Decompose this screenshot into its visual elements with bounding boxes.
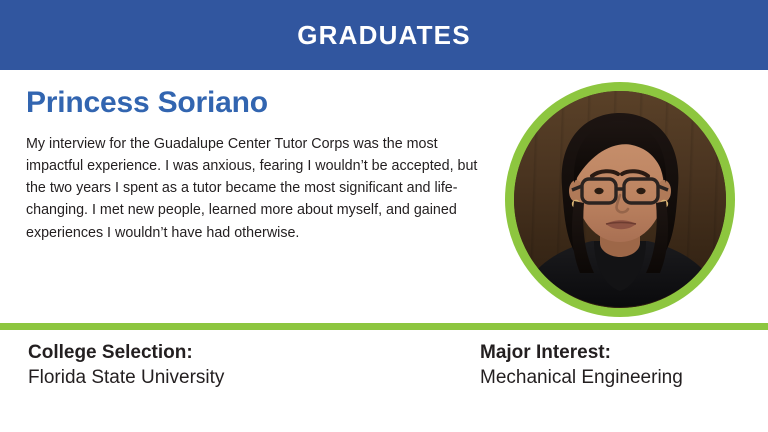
college-selection-value: Florida State University xyxy=(28,365,224,390)
footer: College Selection: Florida State Univers… xyxy=(0,330,768,432)
major-interest-block: Major Interest: Mechanical Engineering xyxy=(480,340,683,390)
main-content: Princess Soriano My interview for the Gu… xyxy=(0,70,768,325)
graduate-profile-slide: GRADUATES Princess Soriano My interview … xyxy=(0,0,768,432)
student-name: Princess Soriano xyxy=(26,86,478,121)
page-title: GRADUATES xyxy=(297,22,471,48)
portrait-ring xyxy=(505,82,735,317)
student-quote: My interview for the Guadalupe Center Tu… xyxy=(26,133,478,244)
major-interest-label: Major Interest: xyxy=(480,340,683,365)
college-selection-label: College Selection: xyxy=(28,340,224,365)
avatar xyxy=(514,91,726,308)
header-band: GRADUATES xyxy=(0,0,768,70)
college-selection-block: College Selection: Florida State Univers… xyxy=(28,340,224,390)
profile-text-column: Princess Soriano My interview for the Gu… xyxy=(26,86,478,244)
portrait-illustration xyxy=(514,91,726,308)
green-divider xyxy=(0,323,768,330)
major-interest-value: Mechanical Engineering xyxy=(480,365,683,390)
